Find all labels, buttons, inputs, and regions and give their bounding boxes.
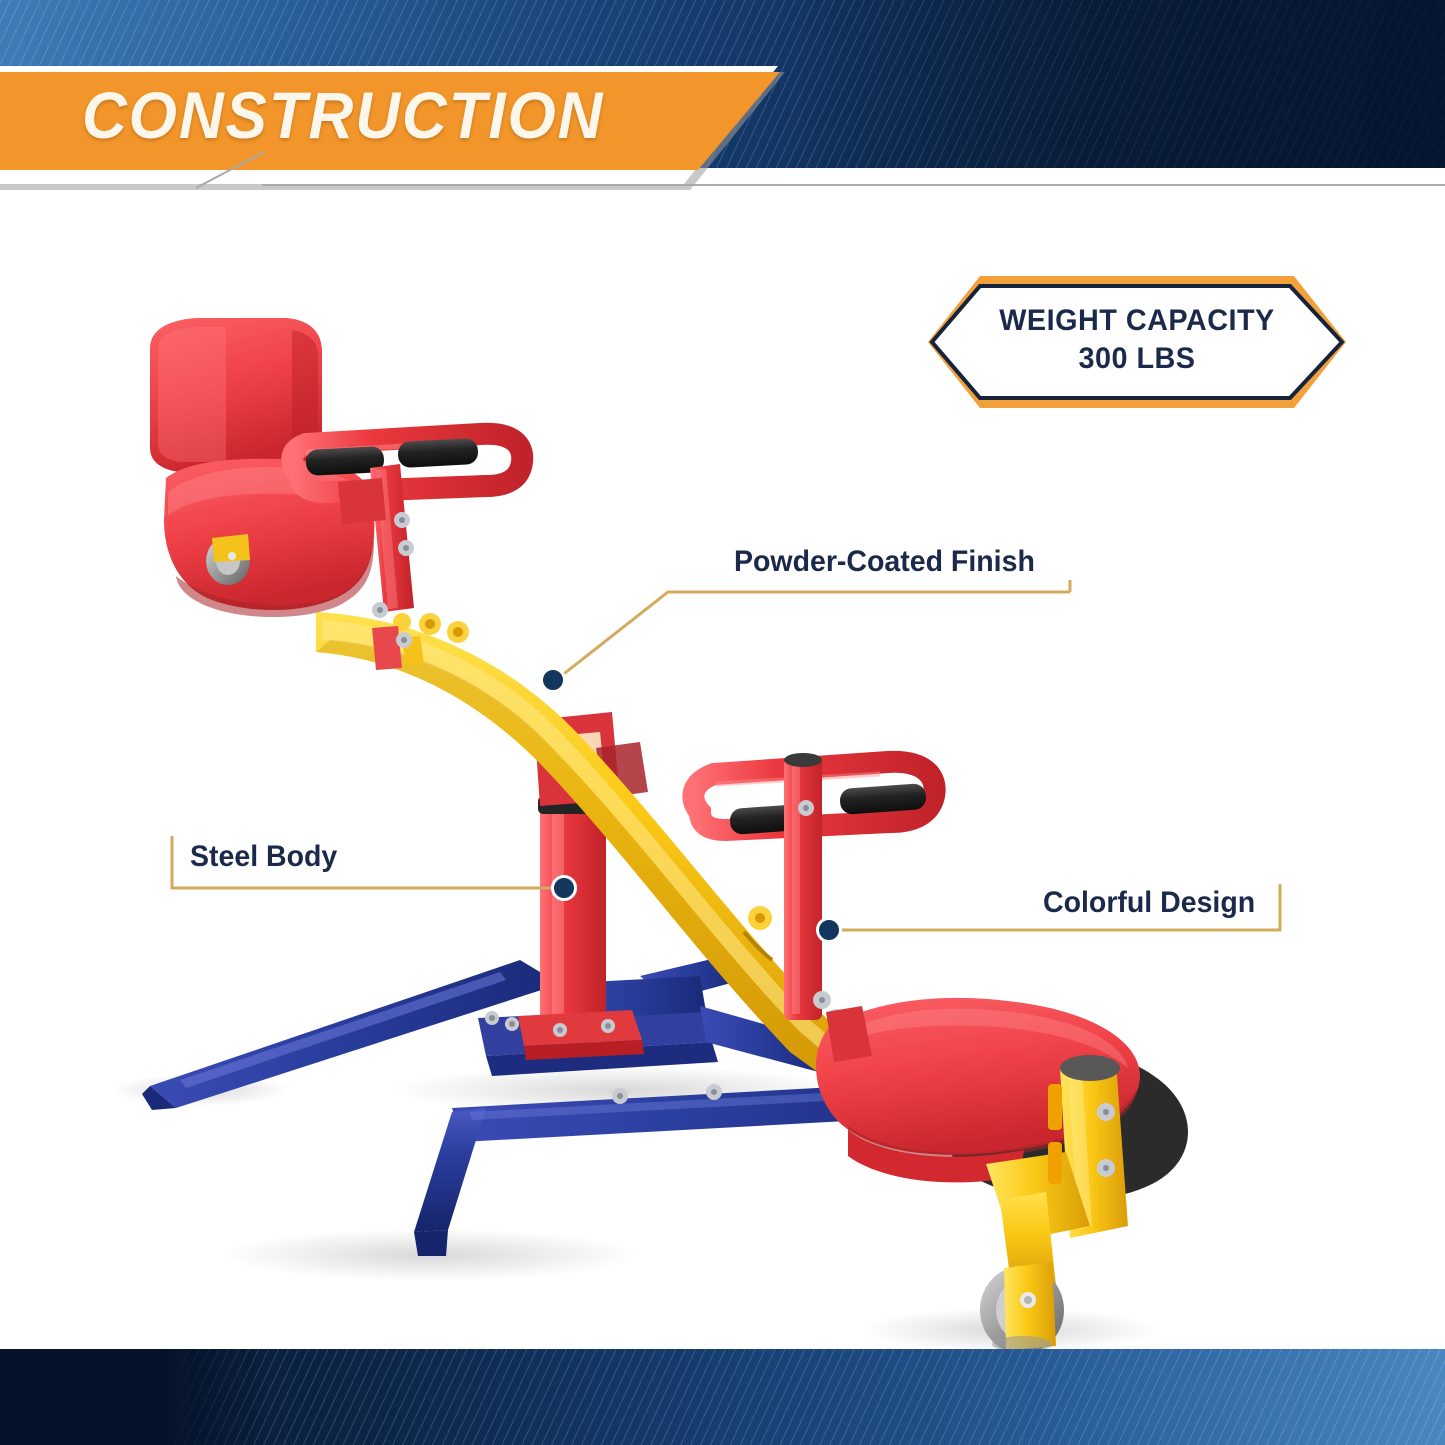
page-title: CONSTRUCTION (82, 77, 604, 153)
callout-label-colorful-design: Colorful Design (1043, 886, 1255, 920)
blue-cross-base (142, 958, 1012, 1256)
badge-line-2: 300 LBS (936, 340, 1337, 378)
infographic-page: CONSTRUCTION (0, 0, 1445, 1445)
red-seat-right (816, 998, 1188, 1354)
product-image-seesaw (0, 0, 1445, 1445)
header-underline-rule (262, 184, 1445, 186)
weight-capacity-badge: WEIGHT CAPACITY 300 LBS (928, 276, 1346, 408)
header-underline-diagonal (196, 150, 286, 190)
footer-dark-overlay (0, 1349, 270, 1445)
callout-dot-steel-body (551, 875, 577, 901)
callout-label-steel-body: Steel Body (190, 840, 337, 874)
caster-wheel (980, 1262, 1064, 1354)
caster-wheel (206, 534, 250, 585)
callout-dot-colorful-design (816, 917, 842, 943)
badge-line-1: WEIGHT CAPACITY (936, 302, 1337, 340)
callout-label-powder-coated-finish: Powder-Coated Finish (734, 545, 1035, 579)
callout-leader-line-powder-coated (540, 580, 1080, 700)
red-seat-left (150, 318, 522, 648)
header-banner: CONSTRUCTION (0, 0, 1445, 196)
callout-dot-powder-coated (540, 667, 566, 693)
badge-text-block: WEIGHT CAPACITY 300 LBS (936, 302, 1337, 378)
